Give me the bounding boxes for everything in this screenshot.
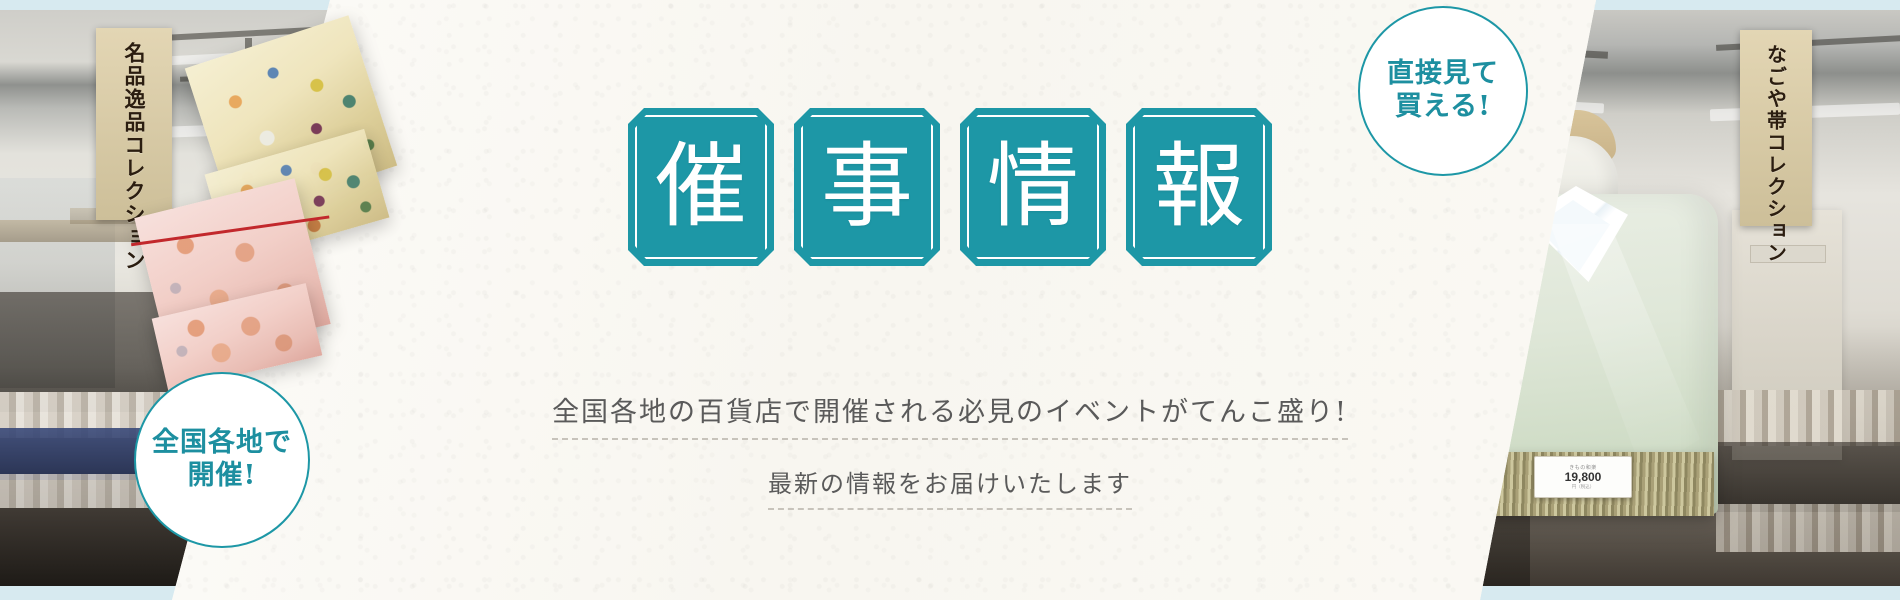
event-banner: リニューアル 名品逸品コレクション リニューアル [0,0,1900,600]
badge-nationwide: 全国各地で 開催! [134,372,310,548]
product-shelf [1716,504,1900,552]
badge-line-2: 買える! [1395,91,1491,124]
title-box-4: 報 [1126,108,1272,266]
title-box-2: 事 [794,108,940,266]
title-box-1: 催 [628,108,774,266]
badge-line-1: 全国各地で [152,427,292,460]
title-box-3: 情 [960,108,1106,266]
badge-line-1: 直接見て [1387,58,1499,91]
title-character-boxes: 催 事 情 報 [0,108,1900,266]
subtitle-line-1: 全国各地の百貨店で開催される必見のイベントがてんこ盛り! [552,390,1348,440]
title-character: 報 [1126,108,1272,266]
title-character: 催 [628,108,774,266]
title-character: 事 [794,108,940,266]
badge-line-2: 開催! [188,460,257,493]
badge-direct-purchase: 直接見て 買える! [1358,6,1528,176]
subtitle-line-2: 最新の情報をお届けいたします [768,464,1132,510]
title-character: 情 [960,108,1106,266]
